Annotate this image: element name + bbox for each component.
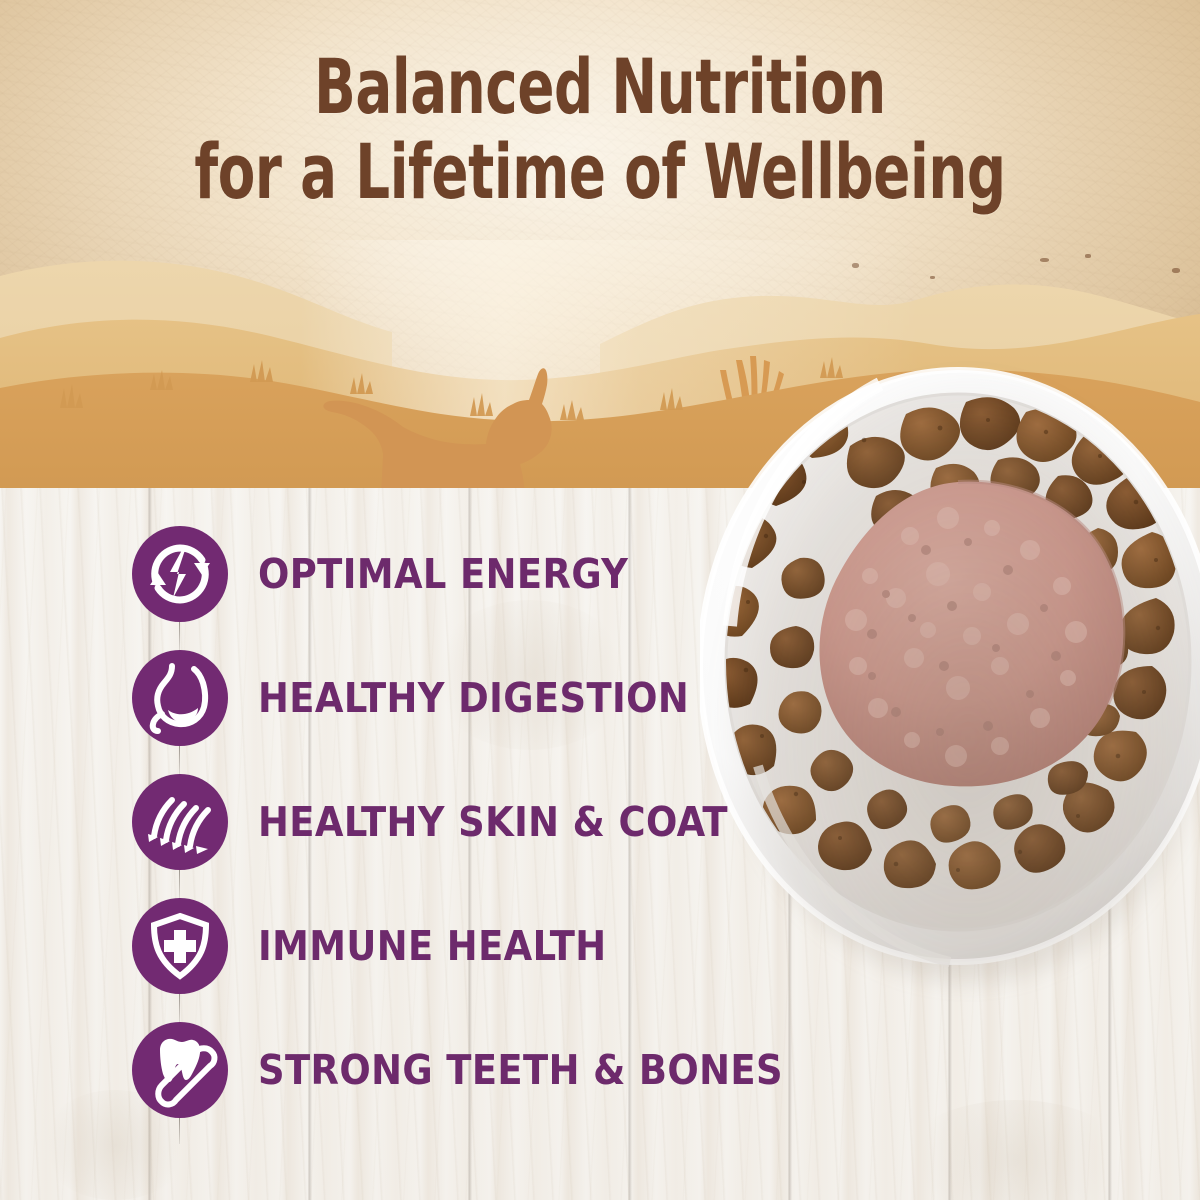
icon-wrap <box>132 1022 228 1118</box>
benefit-label: STRONG TEETH & BONES <box>258 1046 783 1094</box>
icon-wrap <box>132 898 228 994</box>
connector-line <box>179 1118 180 1144</box>
bowl-shadow <box>718 372 1200 982</box>
benefit-label: HEALTHY DIGESTION <box>258 674 689 722</box>
tooth-bone-icon <box>132 1022 228 1118</box>
benefit-row-healthy-digestion[interactable]: HEALTHY DIGESTION <box>0 636 760 760</box>
headline-line-2: for a Lifetime of Wellbeing <box>120 137 1080 208</box>
benefit-label: OPTIMAL ENERGY <box>258 550 628 598</box>
stomach-icon <box>132 650 228 746</box>
icon-wrap <box>132 650 228 746</box>
benefit-row-strong-teeth-bones[interactable]: STRONG TEETH & BONES <box>0 1008 760 1132</box>
page-title: Balanced Nutrition for a Lifetime of Wel… <box>0 52 1200 207</box>
poster-canvas: OPTIMAL ENERGY HEALTHY DIGESTION <box>0 0 1200 1200</box>
icon-wrap <box>132 774 228 870</box>
benefit-row-optimal-energy[interactable]: OPTIMAL ENERGY <box>0 512 760 636</box>
shield-cross-icon <box>132 898 228 994</box>
hair-follicles-icon <box>132 774 228 870</box>
headline-line-1: Balanced Nutrition <box>120 52 1080 123</box>
benefit-label: HEALTHY SKIN & COAT <box>258 798 728 846</box>
energy-cycle-bolt-icon <box>132 526 228 622</box>
dog-food-bowl <box>700 336 1200 1016</box>
benefit-row-healthy-skin-coat[interactable]: HEALTHY SKIN & COAT <box>0 760 760 884</box>
icon-wrap <box>132 526 228 622</box>
benefit-label: IMMUNE HEALTH <box>258 922 607 970</box>
benefit-row-immune-health[interactable]: IMMUNE HEALTH <box>0 884 760 1008</box>
benefits-list: OPTIMAL ENERGY HEALTHY DIGESTION <box>0 512 760 1132</box>
